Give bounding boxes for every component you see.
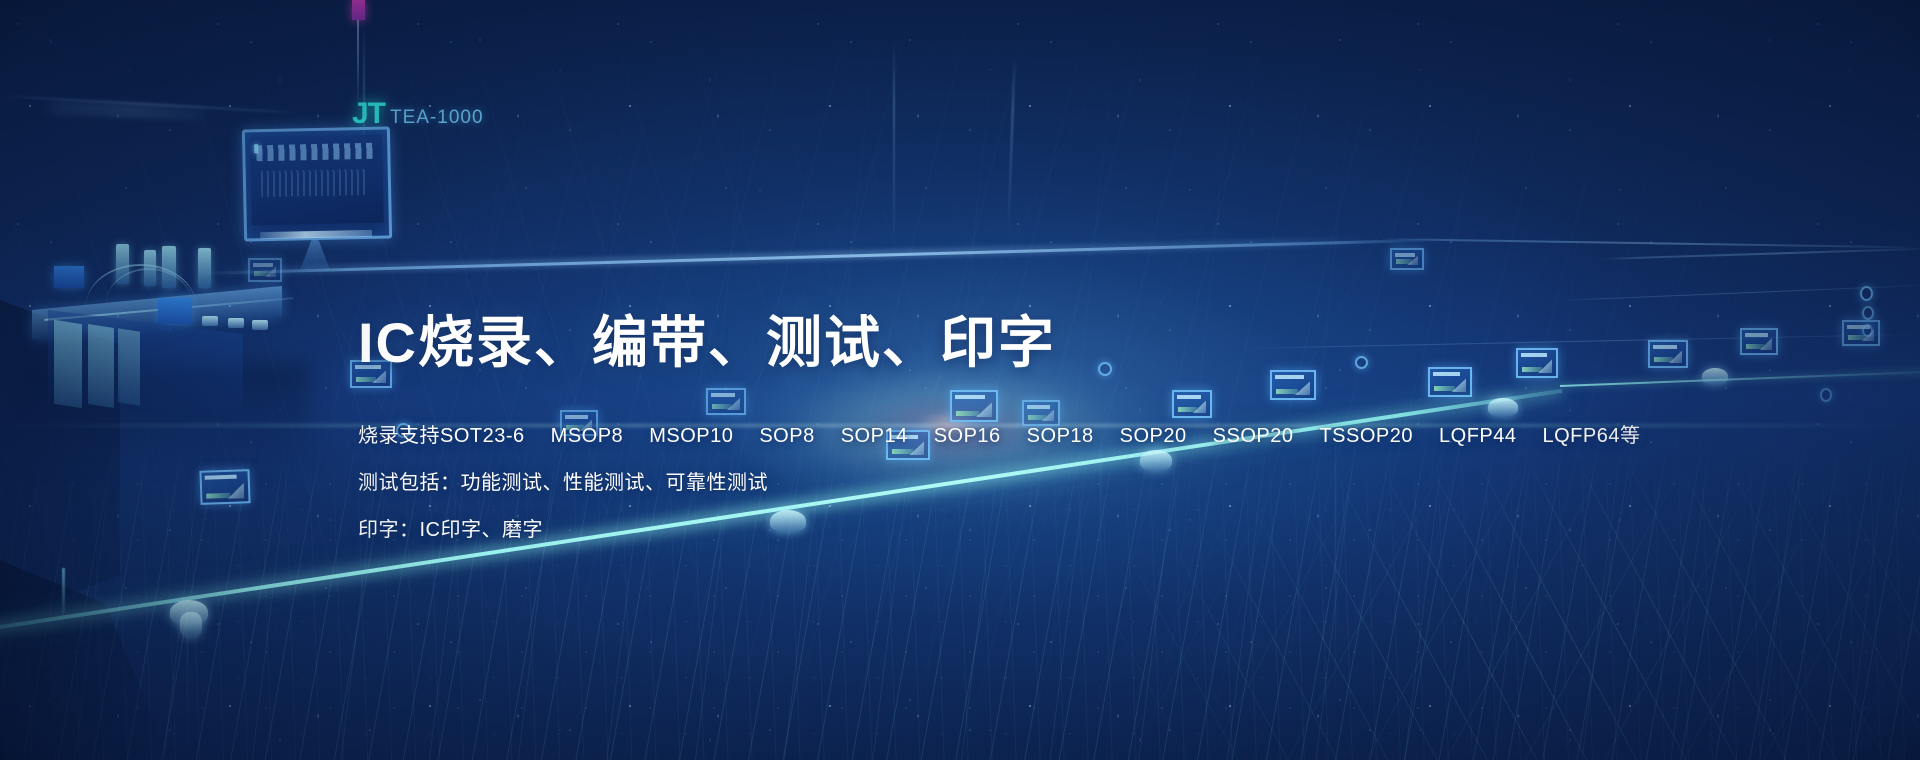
chip-carrier-icon xyxy=(199,469,250,505)
machine-pad-icon xyxy=(228,318,244,328)
burn-support-label: 烧录支持SOT23-6 xyxy=(358,425,525,447)
package-sop16: SOP16 xyxy=(934,425,1001,447)
jt-logo: JT xyxy=(352,97,385,131)
hero-banner: JT TEA-1000 xyxy=(0,0,1920,760)
package-sop8: SOP8 xyxy=(759,425,814,447)
machine-module-blue-icon xyxy=(54,266,84,288)
chip-tape-icon xyxy=(1848,335,1866,340)
chip-carrier-icon xyxy=(1740,328,1778,355)
ring-marker-icon xyxy=(1862,306,1874,320)
package-tssop20: TSSOP20 xyxy=(1319,425,1413,447)
package-msop10: MSOP10 xyxy=(649,425,733,447)
chip-tape-icon xyxy=(1746,344,1764,349)
subtitle-marking: 印字：IC印字、磨字 xyxy=(358,513,1658,542)
vertical-post-icon xyxy=(1007,55,1016,235)
machinery-cluster-icon xyxy=(10,222,305,422)
pneumatic-cylinder-icon xyxy=(198,248,211,288)
machine-fin-icon xyxy=(88,324,114,408)
monitor-row-graphics-secondary-icon xyxy=(261,169,368,197)
equipment-label: JT TEA-1000 xyxy=(352,97,484,131)
package-sop20: SOP20 xyxy=(1120,425,1187,447)
chip-carrier-icon xyxy=(1842,320,1880,346)
package-ssop20: SSOP20 xyxy=(1213,425,1294,447)
subtitle-testing: 测试包括：功能测试、性能测试、可靠性测试 xyxy=(358,466,1658,495)
chip-tape-icon xyxy=(206,493,230,499)
machine-fin-icon xyxy=(54,320,82,408)
machine-fin-icon xyxy=(118,328,140,405)
monitor-row-graphics-icon xyxy=(256,143,376,162)
magenta-tag-icon xyxy=(352,0,365,20)
hero-copy-block: IC烧录、编带、测试、印字 烧录支持SOT23-6MSOP8MSOP10SOP8… xyxy=(358,312,1658,542)
ceiling-beam-right-icon xyxy=(1380,238,1920,248)
rail-support-foot-icon xyxy=(180,612,202,638)
subtitle-packages: 烧录支持SOT23-6MSOP8MSOP10SOP8SOP14SOP16SOP1… xyxy=(358,419,1658,448)
chip-tape-icon xyxy=(1396,259,1412,264)
machine-pad-icon xyxy=(252,320,268,330)
equipment-model-text: TEA-1000 xyxy=(390,107,484,129)
package-lqfp44: LQFP44 xyxy=(1439,425,1516,447)
page-title: IC烧录、编带、测试、印字 xyxy=(358,312,1658,375)
rail-support-foot-icon xyxy=(1702,368,1728,384)
ring-marker-icon xyxy=(1860,286,1873,301)
right-rail-beam-icon xyxy=(1600,248,1920,260)
package-msop8: MSOP8 xyxy=(551,425,624,447)
package-lqfp64: LQFP64等 xyxy=(1543,425,1641,447)
chip-tape-icon xyxy=(254,271,270,276)
ceiling-beam-icon xyxy=(200,238,1440,275)
package-sop18: SOP18 xyxy=(1027,425,1094,447)
machine-module-blue-icon xyxy=(158,298,192,324)
vertical-post-icon xyxy=(893,40,895,250)
package-sop14: SOP14 xyxy=(841,425,908,447)
ring-marker-icon xyxy=(1862,324,1873,337)
chip-carrier-icon xyxy=(1390,248,1424,270)
monitor-screen-icon xyxy=(250,135,384,226)
upper-beam-glow-icon xyxy=(40,100,210,121)
machine-pad-icon xyxy=(202,316,218,326)
hanging-tag-stem-icon xyxy=(357,18,359,108)
chip-carrier-icon xyxy=(248,258,282,282)
ring-marker-icon xyxy=(1820,388,1832,402)
